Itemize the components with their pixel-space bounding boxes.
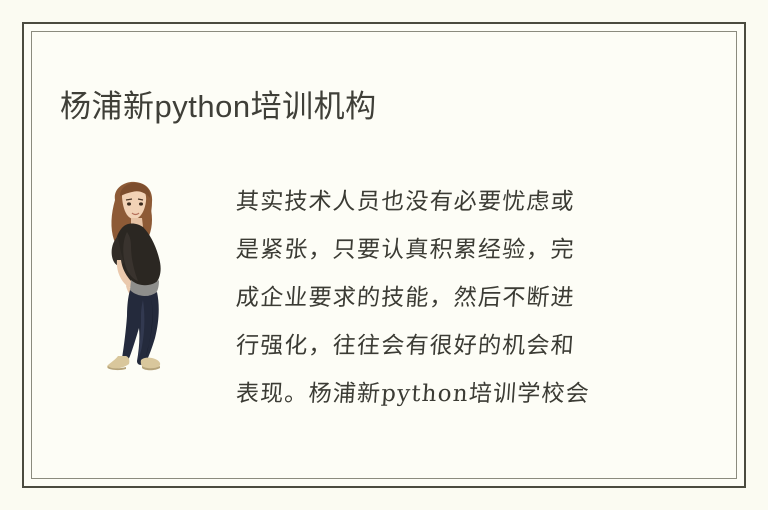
inner-border-frame: 杨浦新python培训机构: [31, 31, 737, 479]
article-body: 其实技术人员也没有必要忧虑或 是紧张，只要认真积累经验，完 成企业要求的技能，然…: [236, 178, 648, 418]
standing-woman-photo: [91, 180, 177, 378]
outer-border-frame: 杨浦新python培训机构: [22, 22, 746, 488]
article-page: 杨浦新python培训机构: [0, 0, 768, 510]
body-line: 成企业要求的技能，然后不断进: [234, 274, 649, 322]
body-line: 其实技术人员也没有必要忧虑或: [234, 178, 649, 226]
body-line: 是紧张，只要认真积累经验，完: [234, 226, 649, 274]
page-title: 杨浦新python培训机构: [60, 87, 377, 127]
body-line: 行强化，往往会有很好的机会和: [234, 322, 649, 370]
standing-woman-illustration: [91, 180, 177, 378]
text-column: 其实技术人员也没有必要忧虑或 是紧张，只要认真积累经验，完 成企业要求的技能，然…: [236, 144, 736, 418]
article-content: 其实技术人员也没有必要忧虑或 是紧张，只要认真积累经验，完 成企业要求的技能，然…: [32, 144, 736, 478]
body-line: 表现。杨浦新python培训学校会: [234, 370, 649, 418]
figure-column: [32, 144, 236, 378]
